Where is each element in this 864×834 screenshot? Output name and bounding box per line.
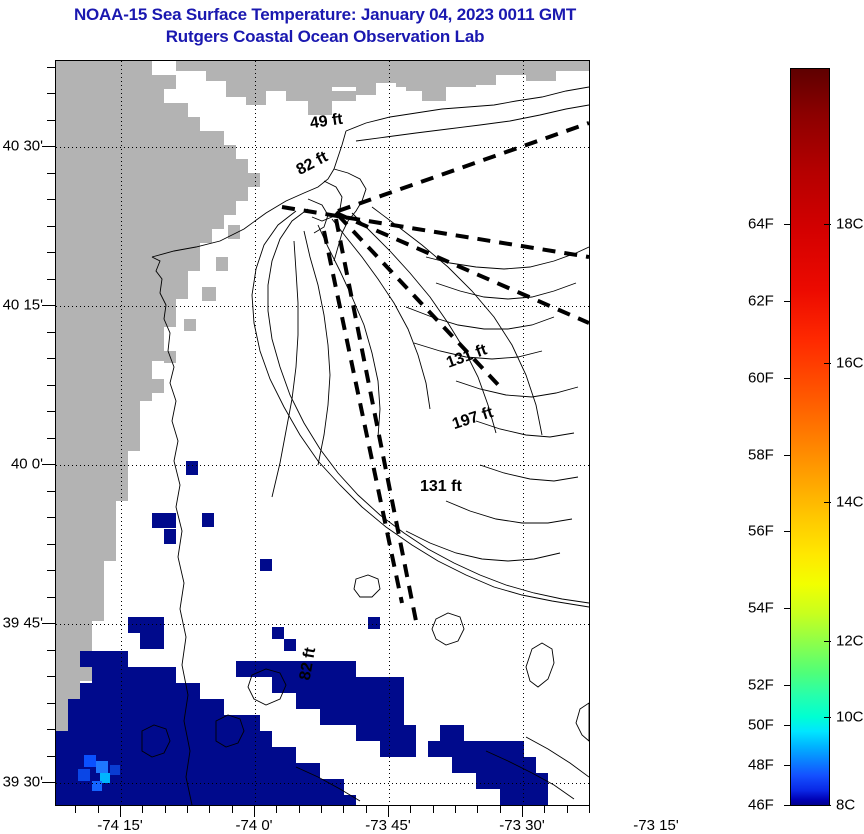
- colorbar-tick-f: [784, 224, 791, 225]
- y-tick-minor: [47, 279, 55, 280]
- x-tick-minor: [232, 806, 233, 813]
- x-tick-minor: [433, 806, 434, 813]
- x-tick-major: [254, 806, 255, 817]
- graticule-line-h: [56, 624, 589, 625]
- y-tick-minor: [47, 252, 55, 253]
- colorbar-tick-c: [824, 363, 831, 364]
- x-tick-minor: [455, 806, 456, 813]
- y-axis: 40 30' 40 15' 40 0' 39 45' 39 30': [0, 60, 55, 806]
- y-tick-minor: [47, 438, 55, 439]
- x-tick-minor: [165, 806, 166, 813]
- y-tick-minor: [47, 703, 55, 704]
- transect-ne-1: [338, 123, 589, 211]
- y-tick-minor: [47, 385, 55, 386]
- x-tick-minor: [98, 806, 99, 813]
- x-tick-minor: [567, 806, 568, 813]
- x-tick-minor: [299, 806, 300, 813]
- x-tick-minor: [544, 806, 545, 813]
- x-axis-label: -74 15': [97, 817, 142, 834]
- colorbar-gradient: [791, 69, 829, 805]
- title-line-2: Rutgers Coastal Ocean Observation Lab: [0, 26, 650, 48]
- colorbar-tick-c: [824, 805, 831, 806]
- y-tick-major: [42, 305, 55, 306]
- transect-lines: [282, 123, 589, 621]
- colorbar-label-celsius: 16C: [836, 355, 864, 372]
- colorbar-label-celsius: 8C: [836, 796, 855, 813]
- x-axis-label: -73 15': [633, 817, 678, 834]
- graticule-line-h: [56, 783, 589, 784]
- y-tick-minor: [47, 226, 55, 227]
- colorbar: [790, 68, 830, 806]
- x-tick-minor: [321, 806, 322, 813]
- y-axis-label: 39 30': [3, 774, 43, 791]
- colorbar-tick-f: [784, 805, 791, 806]
- colorbar-tick-f: [784, 725, 791, 726]
- y-tick-minor: [47, 756, 55, 757]
- transect-s-1: [336, 219, 416, 621]
- x-tick-major: [522, 806, 523, 817]
- y-tick-minor: [47, 729, 55, 730]
- colorbar-tick-f: [784, 608, 791, 609]
- colorbar-label-celsius: 14C: [836, 493, 864, 510]
- y-tick-major: [42, 623, 55, 624]
- x-tick-minor: [343, 806, 344, 813]
- y-tick-major: [42, 782, 55, 783]
- x-tick-minor: [142, 806, 143, 813]
- y-tick-minor: [47, 570, 55, 571]
- colorbar-tick-f: [784, 301, 791, 302]
- y-tick-minor: [47, 544, 55, 545]
- y-axis-label: 40 0': [11, 456, 43, 473]
- y-tick-minor: [47, 199, 55, 200]
- graticule-line-v: [523, 61, 524, 805]
- y-axis-label: 39 45': [3, 615, 43, 632]
- transect-e-1: [282, 207, 589, 257]
- title-line-1: NOAA-15 Sea Surface Temperature: January…: [0, 4, 650, 26]
- x-tick-minor: [366, 806, 367, 813]
- colorbar-tick-f: [784, 685, 791, 686]
- transect-s-2: [324, 231, 402, 603]
- x-tick-minor: [209, 806, 210, 813]
- y-tick-minor: [47, 676, 55, 677]
- graticule-line-h: [56, 465, 589, 466]
- colorbar-tick-f: [784, 531, 791, 532]
- colorbar-tick-f: [784, 765, 791, 766]
- graticule-line-v: [121, 61, 122, 805]
- colorbar-tick-f: [784, 378, 791, 379]
- y-tick-minor: [47, 120, 55, 121]
- y-tick-major: [42, 146, 55, 147]
- y-tick-minor: [47, 650, 55, 651]
- y-tick-minor: [47, 67, 55, 68]
- y-tick-major: [42, 464, 55, 465]
- y-tick-minor: [47, 517, 55, 518]
- y-tick-minor: [47, 173, 55, 174]
- y-tick-minor: [47, 597, 55, 598]
- depth-label: 131 ft: [420, 478, 462, 496]
- colorbar-label-celsius: 12C: [836, 632, 864, 649]
- x-axis-label: -73 30': [499, 817, 544, 834]
- x-tick-minor: [500, 806, 501, 813]
- colorbar-label-celsius: 18C: [836, 216, 864, 233]
- colorbar-tick-c: [824, 224, 831, 225]
- y-tick-minor: [47, 358, 55, 359]
- x-tick-minor: [410, 806, 411, 813]
- y-tick-marks: [41, 60, 55, 806]
- sst-map: [55, 60, 590, 806]
- colorbar-tick-c: [824, 502, 831, 503]
- graticule-line-v: [389, 61, 390, 805]
- colorbar-tick-c: [824, 717, 831, 718]
- map-canvas: [56, 61, 589, 805]
- x-tick-minor: [75, 806, 76, 813]
- colorbar-tick-f: [784, 455, 791, 456]
- x-tick-minor: [589, 806, 590, 813]
- x-tick-major: [388, 806, 389, 817]
- x-tick-minor: [477, 806, 478, 813]
- y-tick-minor: [47, 332, 55, 333]
- graticule-line-h: [56, 306, 589, 307]
- x-axis-label: -73 45': [365, 817, 410, 834]
- graticule-line-v: [255, 61, 256, 805]
- x-tick-minor: [187, 806, 188, 813]
- x-tick-major: [120, 806, 121, 817]
- y-tick-minor: [47, 411, 55, 412]
- colorbar-tick-c: [824, 641, 831, 642]
- y-axis-label: 40 15': [3, 297, 43, 314]
- y-axis-label: 40 30': [3, 138, 43, 155]
- x-axis: -74 15' -74 0' -73 45' -73 30' -73 15': [55, 806, 590, 832]
- x-tick-minor: [276, 806, 277, 813]
- chart-title: NOAA-15 Sea Surface Temperature: January…: [0, 4, 650, 48]
- y-tick-minor: [47, 93, 55, 94]
- x-axis-label: -74 0': [235, 817, 272, 834]
- y-tick-minor: [47, 491, 55, 492]
- colorbar-label-celsius: 10C: [836, 709, 864, 726]
